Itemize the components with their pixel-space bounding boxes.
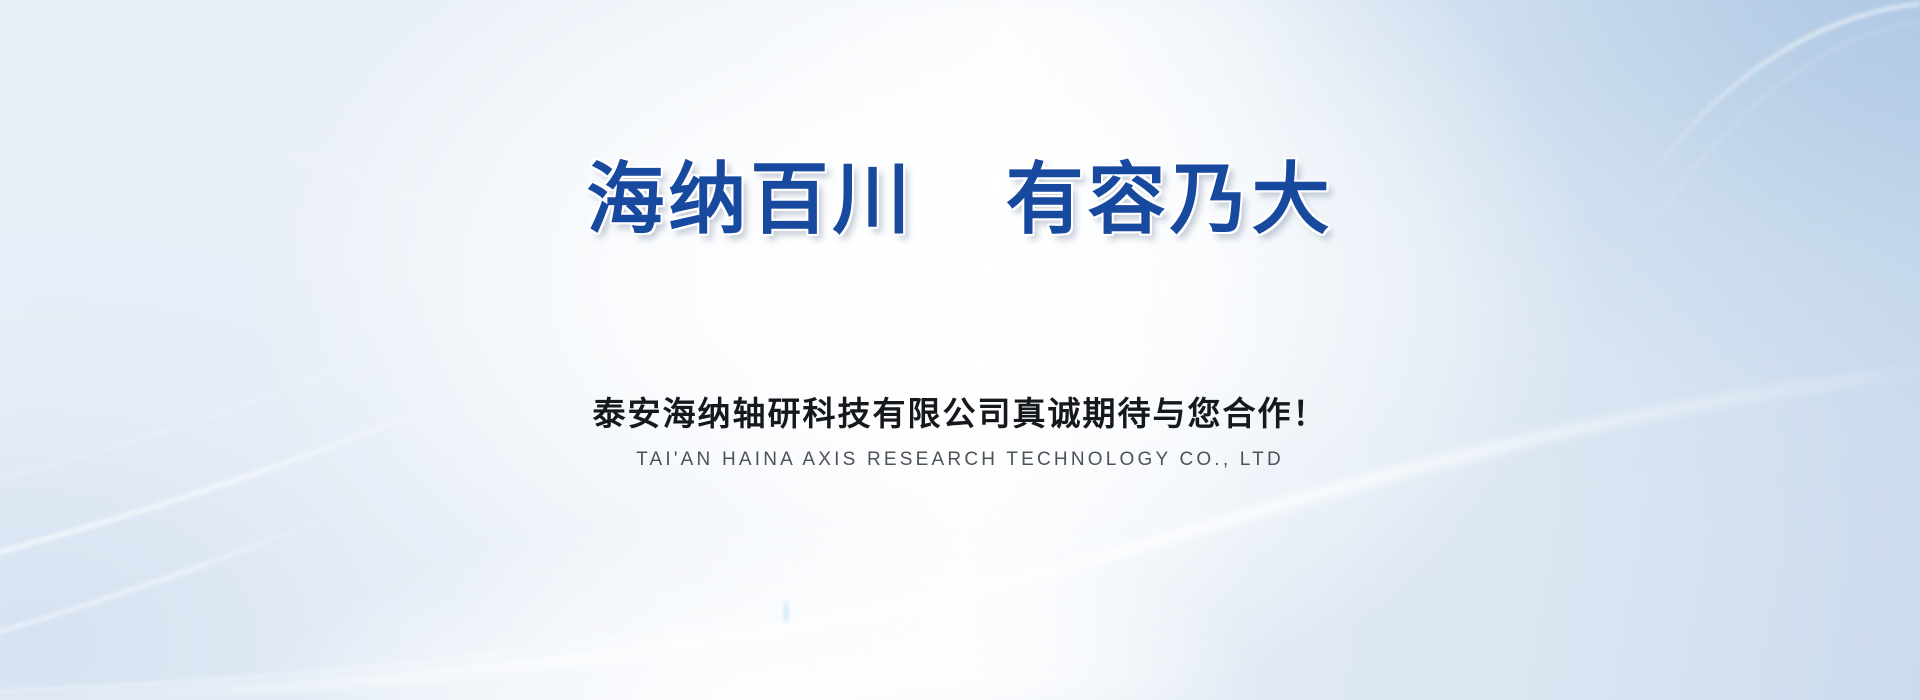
banner-subtitle-cn: 泰安海纳轴研科技有限公司真诚期待与您合作！: [0, 394, 1920, 434]
headline-segment-2: 有容乃大: [1006, 155, 1334, 243]
banner-subtitle-en: TAI'AN HAINA AXIS RESEARCH TECHNOLOGY CO…: [0, 449, 1920, 472]
hero-banner: 海纳百川 有容乃大 泰安海纳轴研科技有限公司真诚期待与您合作！ TAI'AN H…: [0, 0, 1920, 700]
headline-segment-1: 海纳百川: [586, 155, 914, 243]
banner-headline: 海纳百川 有容乃大: [0, 160, 1920, 238]
banner-content: 海纳百川 有容乃大 泰安海纳轴研科技有限公司真诚期待与您合作！ TAI'AN H…: [0, 0, 1920, 700]
